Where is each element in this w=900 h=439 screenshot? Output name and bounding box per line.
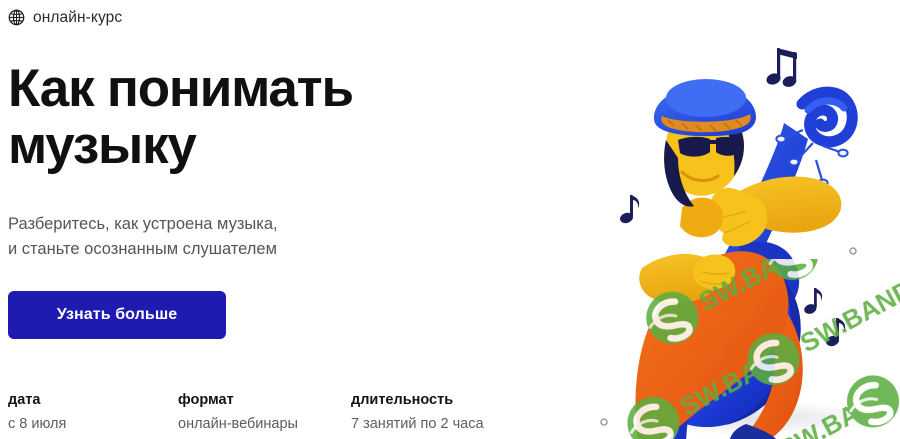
course-meta-row: дата с 8 июля формат онлайн-вебинары дли… xyxy=(8,390,528,434)
course-hero-banner: SW.BAND xyxy=(0,0,900,439)
meta-item-duration: длительность 7 занятий по 2 часа xyxy=(351,390,531,434)
learn-more-button[interactable]: Узнать больше xyxy=(8,291,226,339)
hero-subtitle-line-2: и станьте осознанным слушателем xyxy=(8,237,428,262)
course-type-eyebrow: онлайн-курс xyxy=(8,9,122,26)
meta-item-format: формат онлайн-вебинары xyxy=(178,390,351,434)
meta-value-date: с 8 июля xyxy=(8,415,178,434)
course-type-label: онлайн-курс xyxy=(33,9,122,26)
meta-item-date: дата с 8 июля xyxy=(8,390,178,434)
meta-label-date: дата xyxy=(8,390,178,410)
globe-icon xyxy=(8,9,25,26)
hero-subtitle-line-1: Разберитесь, как устроена музыка, xyxy=(8,212,428,237)
meta-label-format: формат xyxy=(178,390,351,410)
hero-subtitle: Разберитесь, как устроена музыка, и стан… xyxy=(8,212,428,262)
hero-content: онлайн-курс Как понимать музыку Разберит… xyxy=(8,0,568,439)
meta-value-duration: 7 занятий по 2 часа xyxy=(351,415,531,434)
jazz-double-bass-player-illustration xyxy=(570,0,900,439)
meta-label-duration: длительность xyxy=(351,390,531,410)
page-title: Как понимать музыку xyxy=(8,60,528,174)
meta-value-format: онлайн-вебинары xyxy=(178,415,351,434)
